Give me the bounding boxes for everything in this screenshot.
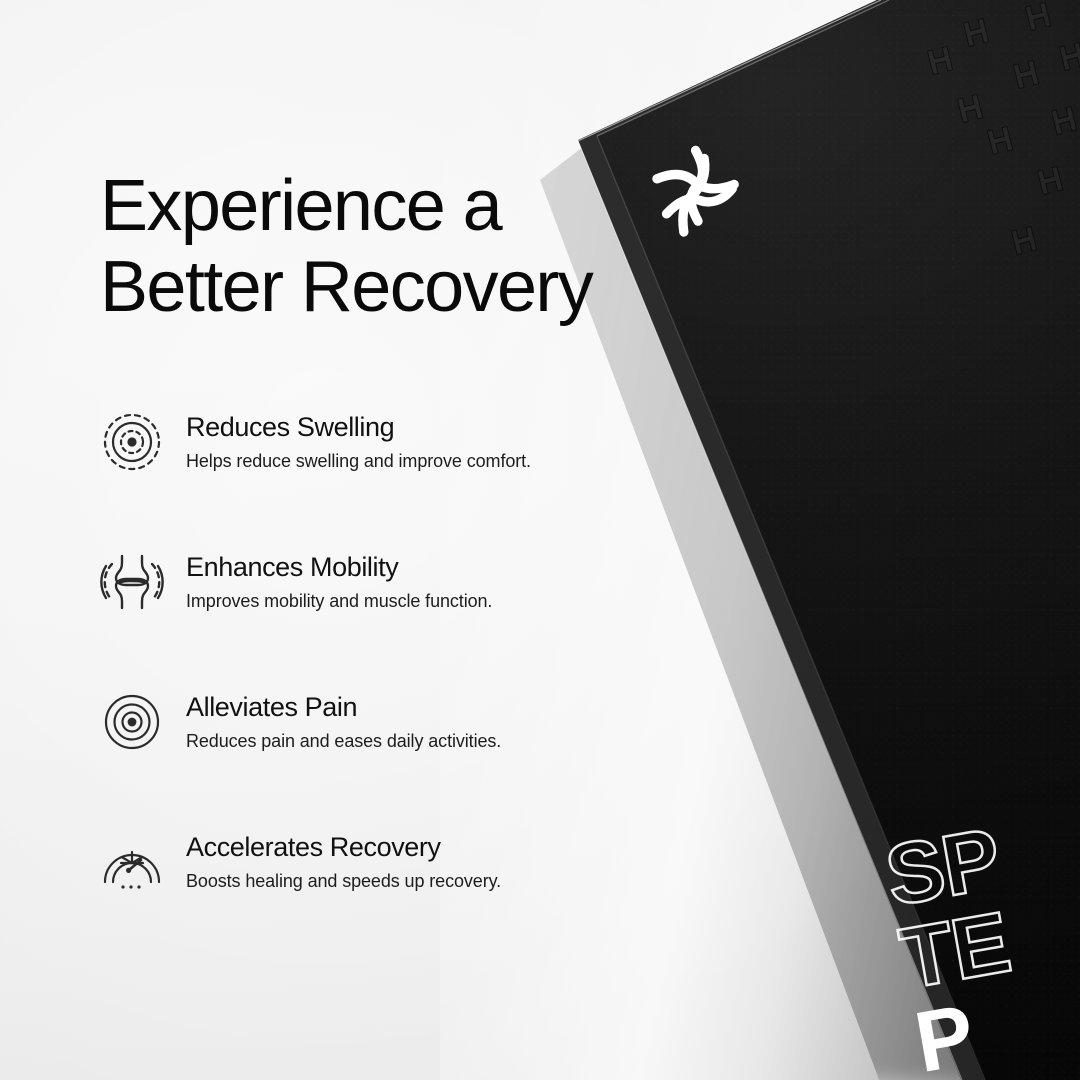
page-title: Experience a Better Recovery xyxy=(100,166,592,327)
list-item-title: Reduces Swelling xyxy=(186,412,531,443)
speedometer-gauge-icon xyxy=(100,830,164,894)
list-item-description: Reduces pain and eases daily activities. xyxy=(186,730,501,753)
list-item-description: Helps reduce swelling and improve comfor… xyxy=(186,450,531,473)
list-item: Enhances Mobility Improves mobility and … xyxy=(100,544,630,684)
list-item-title: Accelerates Recovery xyxy=(186,832,501,863)
knee-joint-mobility-icon xyxy=(100,550,164,614)
list-item: Reduces Swelling Helps reduce swelling a… xyxy=(100,404,630,544)
list-item-text: Accelerates Recovery Boosts healing and … xyxy=(186,824,501,893)
list-item-title: Enhances Mobility xyxy=(186,552,492,583)
list-item-description: Boosts healing and speeds up recovery. xyxy=(186,870,501,893)
list-item-text: Alleviates Pain Reduces pain and eases d… xyxy=(186,684,501,753)
promo-image: SP TE P Experience a Better Recovery R xyxy=(0,0,1080,1080)
list-item-text: Reduces Swelling Helps reduce swelling a… xyxy=(186,404,531,473)
list-item-title: Alleviates Pain xyxy=(186,692,501,723)
list-item-description: Improves mobility and muscle function. xyxy=(186,590,492,613)
list-item-text: Enhances Mobility Improves mobility and … xyxy=(186,544,492,613)
content-column: Experience a Better Recovery Reduces Swe… xyxy=(100,0,630,1080)
list-item: Alleviates Pain Reduces pain and eases d… xyxy=(100,684,630,824)
feature-list: Reduces Swelling Helps reduce swelling a… xyxy=(100,404,630,964)
bullseye-target-icon xyxy=(100,690,164,754)
concentric-dashed-circles-icon xyxy=(100,410,164,474)
list-item: Accelerates Recovery Boosts healing and … xyxy=(100,824,630,964)
